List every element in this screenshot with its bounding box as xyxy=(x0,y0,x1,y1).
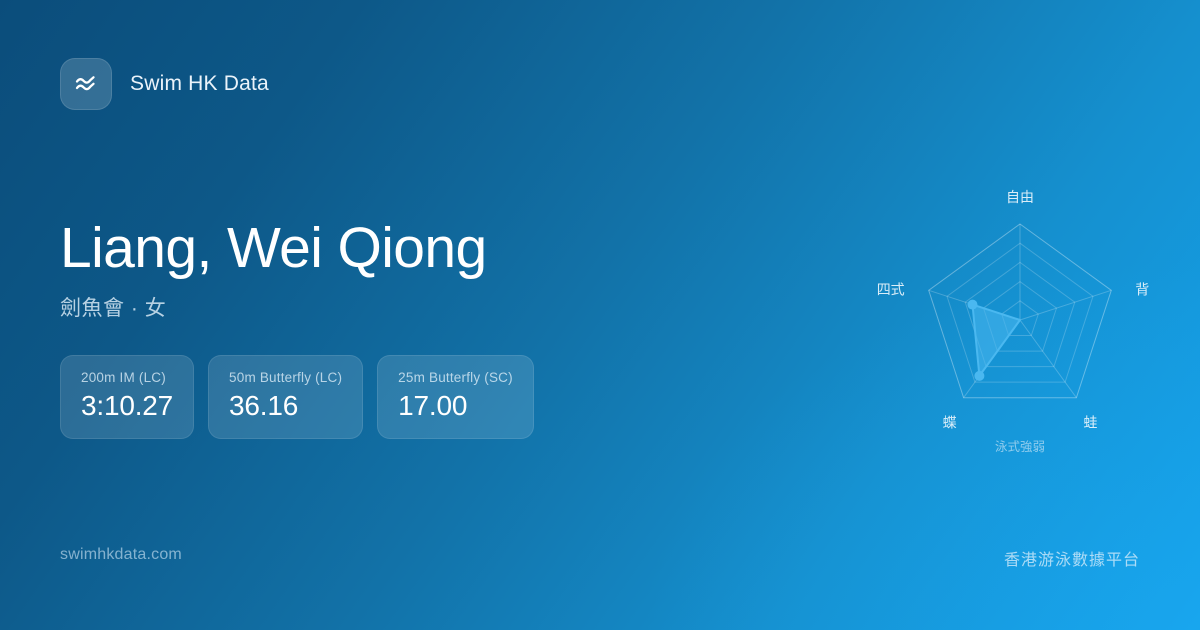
radar-axis-label-butterfly: 蝶 xyxy=(943,415,957,431)
stat-value: 3:10.27 xyxy=(81,390,173,422)
radar-spokes xyxy=(929,224,1112,398)
radar-axis-label-free: 自由 xyxy=(1006,189,1034,205)
page-title: Liang, Wei Qiong xyxy=(60,218,487,278)
radar-axis-labels: 自由背蛙蝶四式 xyxy=(877,189,1150,431)
hero-section: Liang, Wei Qiong 劍魚會 · 女 xyxy=(60,218,487,322)
stat-card: 50m Butterfly (LC) 36.16 xyxy=(208,355,363,439)
radar-axis-label-breast: 蛙 xyxy=(1083,415,1097,431)
brand-name: Swim HK Data xyxy=(130,72,269,96)
stat-card: 25m Butterfly (SC) 17.00 xyxy=(377,355,534,439)
stat-label: 200m IM (LC) xyxy=(81,370,173,385)
footer-site-url: swimhkdata.com xyxy=(60,546,182,564)
meta-separator: · xyxy=(131,297,139,320)
radar-spoke xyxy=(1020,290,1111,320)
radar-data-point xyxy=(968,300,978,310)
stroke-strength-radar-chart: 自由背蛙蝶四式 泳式強弱 xyxy=(860,165,1180,475)
wave-icon xyxy=(60,58,112,110)
radar-caption: 泳式強弱 xyxy=(995,440,1045,454)
stat-card: 200m IM (LC) 3:10.27 xyxy=(60,355,194,439)
radar-data-area xyxy=(973,305,1021,376)
stat-value: 17.00 xyxy=(398,390,513,422)
radar-data-point xyxy=(974,371,984,381)
radar-axis-label-back: 背 xyxy=(1135,281,1149,297)
athlete-gender: 女 xyxy=(145,297,167,320)
stat-card-list: 200m IM (LC) 3:10.27 50m Butterfly (LC) … xyxy=(60,355,534,439)
stat-label: 50m Butterfly (LC) xyxy=(229,370,342,385)
brand-header: Swim HK Data xyxy=(60,58,269,110)
athlete-club: 劍魚會 xyxy=(60,297,125,320)
footer-tagline: 香港游泳數據平台 xyxy=(1004,546,1140,570)
radar-axis-label-im: 四式 xyxy=(877,281,905,297)
stat-value: 36.16 xyxy=(229,390,342,422)
athlete-meta: 劍魚會 · 女 xyxy=(60,292,487,322)
radar-spoke xyxy=(1020,320,1076,398)
stat-label: 25m Butterfly (SC) xyxy=(398,370,513,385)
